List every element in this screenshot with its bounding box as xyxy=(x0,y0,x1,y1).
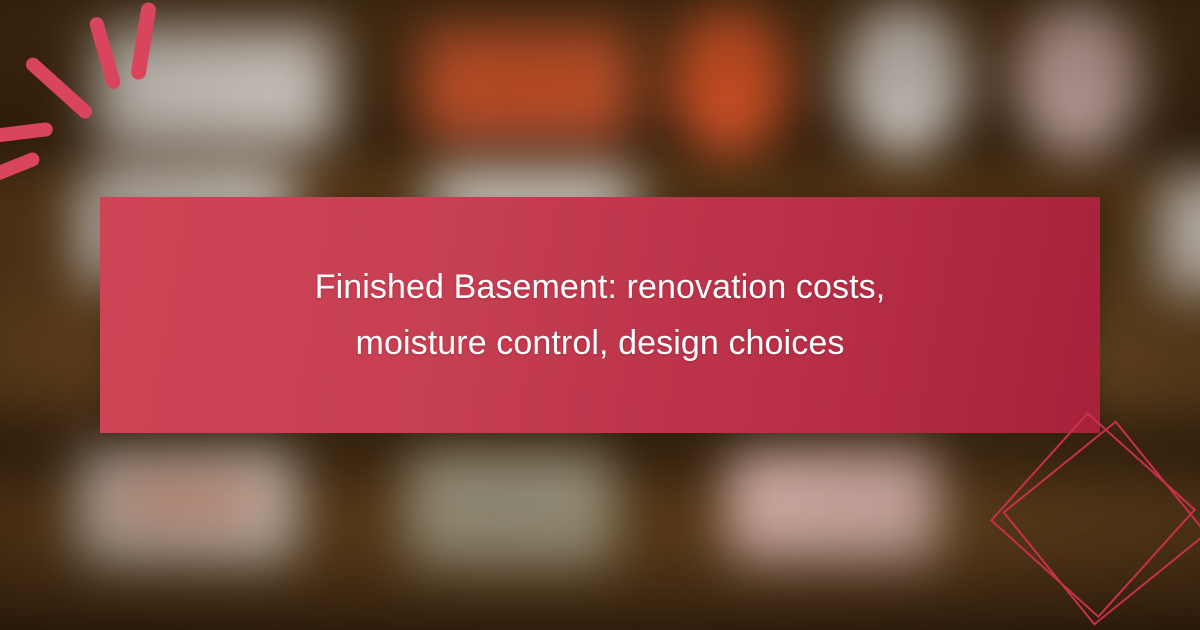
product-white-box-bottom-left xyxy=(80,452,295,562)
product-white-box-bottom-left-label xyxy=(114,478,260,524)
product-pink-box-bottom xyxy=(728,452,938,562)
og-card-canvas: Finished Basement: renovation costs, moi… xyxy=(0,0,1200,630)
product-olive-box-bottom xyxy=(408,452,613,567)
product-orange-oval-top-label xyxy=(690,43,768,104)
product-pink-oval-top-label xyxy=(1038,40,1121,103)
product-white-box-top-left xyxy=(95,25,335,145)
product-orange-box-top-label xyxy=(454,54,597,100)
product-box-mid-right xyxy=(1160,172,1200,292)
product-box-mid-right-label xyxy=(1179,201,1200,251)
product-white-oval-top-label xyxy=(864,40,946,103)
title-banner: Finished Basement: renovation costs, moi… xyxy=(100,197,1100,433)
product-olive-box-bottom-label xyxy=(441,480,580,528)
page-title: Finished Basement: renovation costs, moi… xyxy=(269,259,932,371)
product-pink-oval-top xyxy=(1018,4,1140,154)
page-title-line-2: moisture control, design choices xyxy=(356,324,845,362)
product-white-oval-top xyxy=(845,4,965,154)
page-title-line-1: Finished Basement: renovation costs, xyxy=(315,268,886,306)
product-orange-oval-top xyxy=(672,8,787,153)
product-orange-box-top xyxy=(420,28,630,138)
product-pink-box-bottom-label xyxy=(762,478,905,524)
product-white-box-top-left-label xyxy=(133,54,296,104)
